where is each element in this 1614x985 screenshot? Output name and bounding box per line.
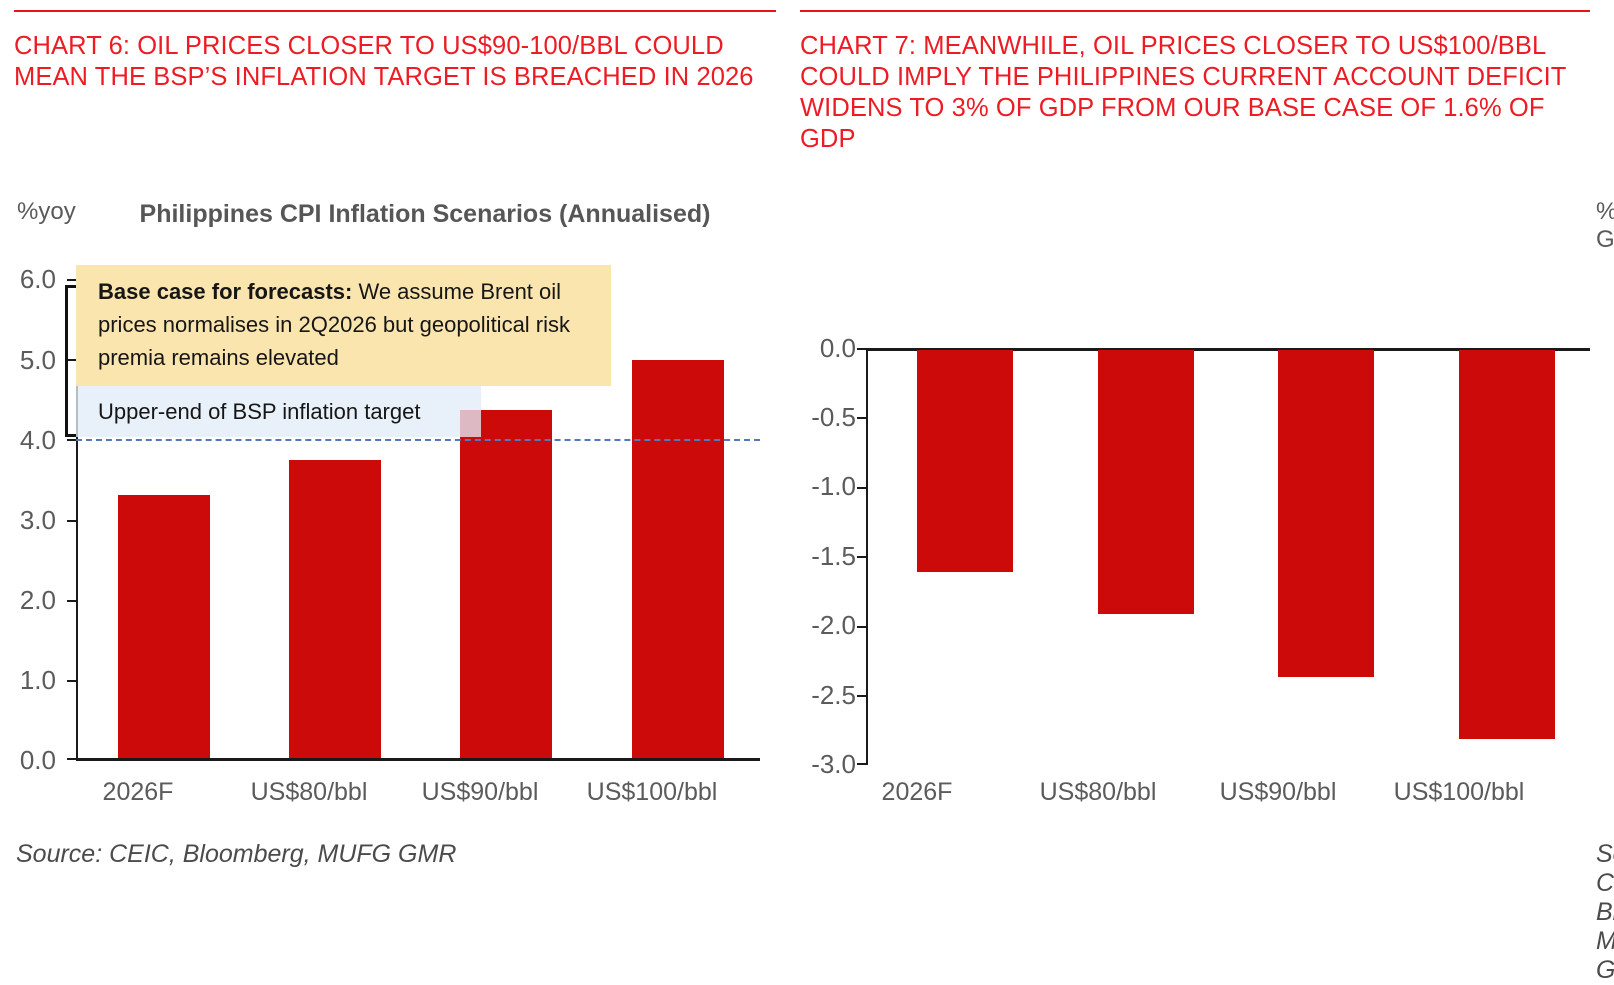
chart7-tick-2 [857, 487, 866, 489]
chart6-xtick-us90: US$90/bbl [404, 778, 556, 806]
chart7-ytick-1: -0.5 [790, 404, 856, 430]
chart7-tick-3 [857, 556, 866, 558]
chart6-target-callout: Upper-end of BSP inflation target [76, 386, 481, 437]
chart6-ytick-2: 2.0 [0, 587, 56, 613]
chart6-tick-4 [67, 439, 76, 441]
chart6-ytick-5: 5.0 [0, 347, 56, 373]
chart6-ytick-0: 0.0 [0, 747, 56, 773]
chart7-bar-us90 [1278, 350, 1374, 677]
chart6-bar-2026f [118, 495, 210, 760]
chart7-bar-2026f [917, 350, 1013, 572]
chart6-x-axis [76, 758, 760, 761]
chart6-tick-6 [67, 279, 76, 281]
chart7-y-unit-label: % of GDP [1596, 198, 1614, 254]
chart7-ytick-2: -1.0 [790, 473, 856, 499]
chart6-ytick-6: 6.0 [0, 266, 56, 292]
chart7-ytick-6: -3.0 [790, 751, 856, 777]
chart7-source: Source: CEIC, Bloomberg, MUFG GMR [1596, 840, 1614, 985]
chart6-headline: CHART 6: OIL PRICES CLOSER TO US$90-100/… [14, 31, 782, 93]
chart7-ytick-4: -2.0 [790, 612, 856, 638]
chart7-ytick-5: -2.5 [790, 682, 856, 708]
chart6-target-label: Upper-end of BSP inflation target [98, 399, 420, 424]
chart6-tick-2 [67, 600, 76, 602]
chart7-xtick-2026f: 2026F [841, 778, 993, 806]
chart7-tick-0 [857, 348, 866, 350]
chart-pair-page: CHART 6: OIL PRICES CLOSER TO US$90-100/… [0, 0, 1614, 907]
chart7-top-rule [800, 10, 1590, 12]
chart6-tick-0 [67, 758, 76, 760]
chart7-tick-1 [857, 417, 866, 419]
chart7-bar-us100 [1459, 350, 1555, 739]
chart6-bar-us100 [632, 360, 724, 760]
chart6-y-unit-label: %yoy [17, 198, 76, 226]
chart6-tick-1 [67, 680, 76, 682]
chart6-threshold-line [76, 439, 760, 441]
chart6-xtick-2026f: 2026F [62, 778, 214, 806]
chart7-tick-5 [857, 695, 866, 697]
chart6-xtick-us80: US$80/bbl [233, 778, 385, 806]
chart7-ytick-3: -1.5 [790, 543, 856, 569]
chart6-bar-us80 [289, 460, 381, 760]
chart7-y-axis [866, 348, 868, 765]
chart7-tick-6 [857, 763, 866, 765]
chart7-xtick-us100: US$100/bbl [1383, 778, 1535, 806]
chart6-ytick-3: 3.0 [0, 507, 56, 533]
chart6-title: Philippines CPI Inflation Scenarios (Ann… [120, 196, 730, 232]
chart7-bar-us80 [1098, 350, 1194, 614]
chart7-headline: CHART 7: MEANWHILE, OIL PRICES CLOSER TO… [800, 31, 1590, 155]
chart7-plot-area [866, 348, 1590, 765]
chart6-panel: CHART 6: OIL PRICES CLOSER TO US$90-100/… [0, 0, 790, 907]
chart6-base-case-bold: Base case for forecasts: [98, 279, 352, 304]
chart7-ytick-0: 0.0 [790, 335, 856, 361]
chart6-bar-us90 [460, 410, 552, 760]
chart6-ytick-4: 4.0 [0, 427, 56, 453]
chart6-xtick-us100: US$100/bbl [576, 778, 728, 806]
chart6-tick-3 [67, 520, 76, 522]
chart6-source: Source: CEIC, Bloomberg, MUFG GMR [16, 840, 456, 869]
chart7-xtick-us80: US$80/bbl [1022, 778, 1174, 806]
chart6-top-rule [14, 10, 776, 12]
chart6-ytick-1: 1.0 [0, 667, 56, 693]
chart7-xtick-us90: US$90/bbl [1202, 778, 1354, 806]
chart6-base-case-callout: Base case for forecasts: We assume Brent… [76, 265, 611, 386]
chart7-tick-4 [857, 626, 866, 628]
